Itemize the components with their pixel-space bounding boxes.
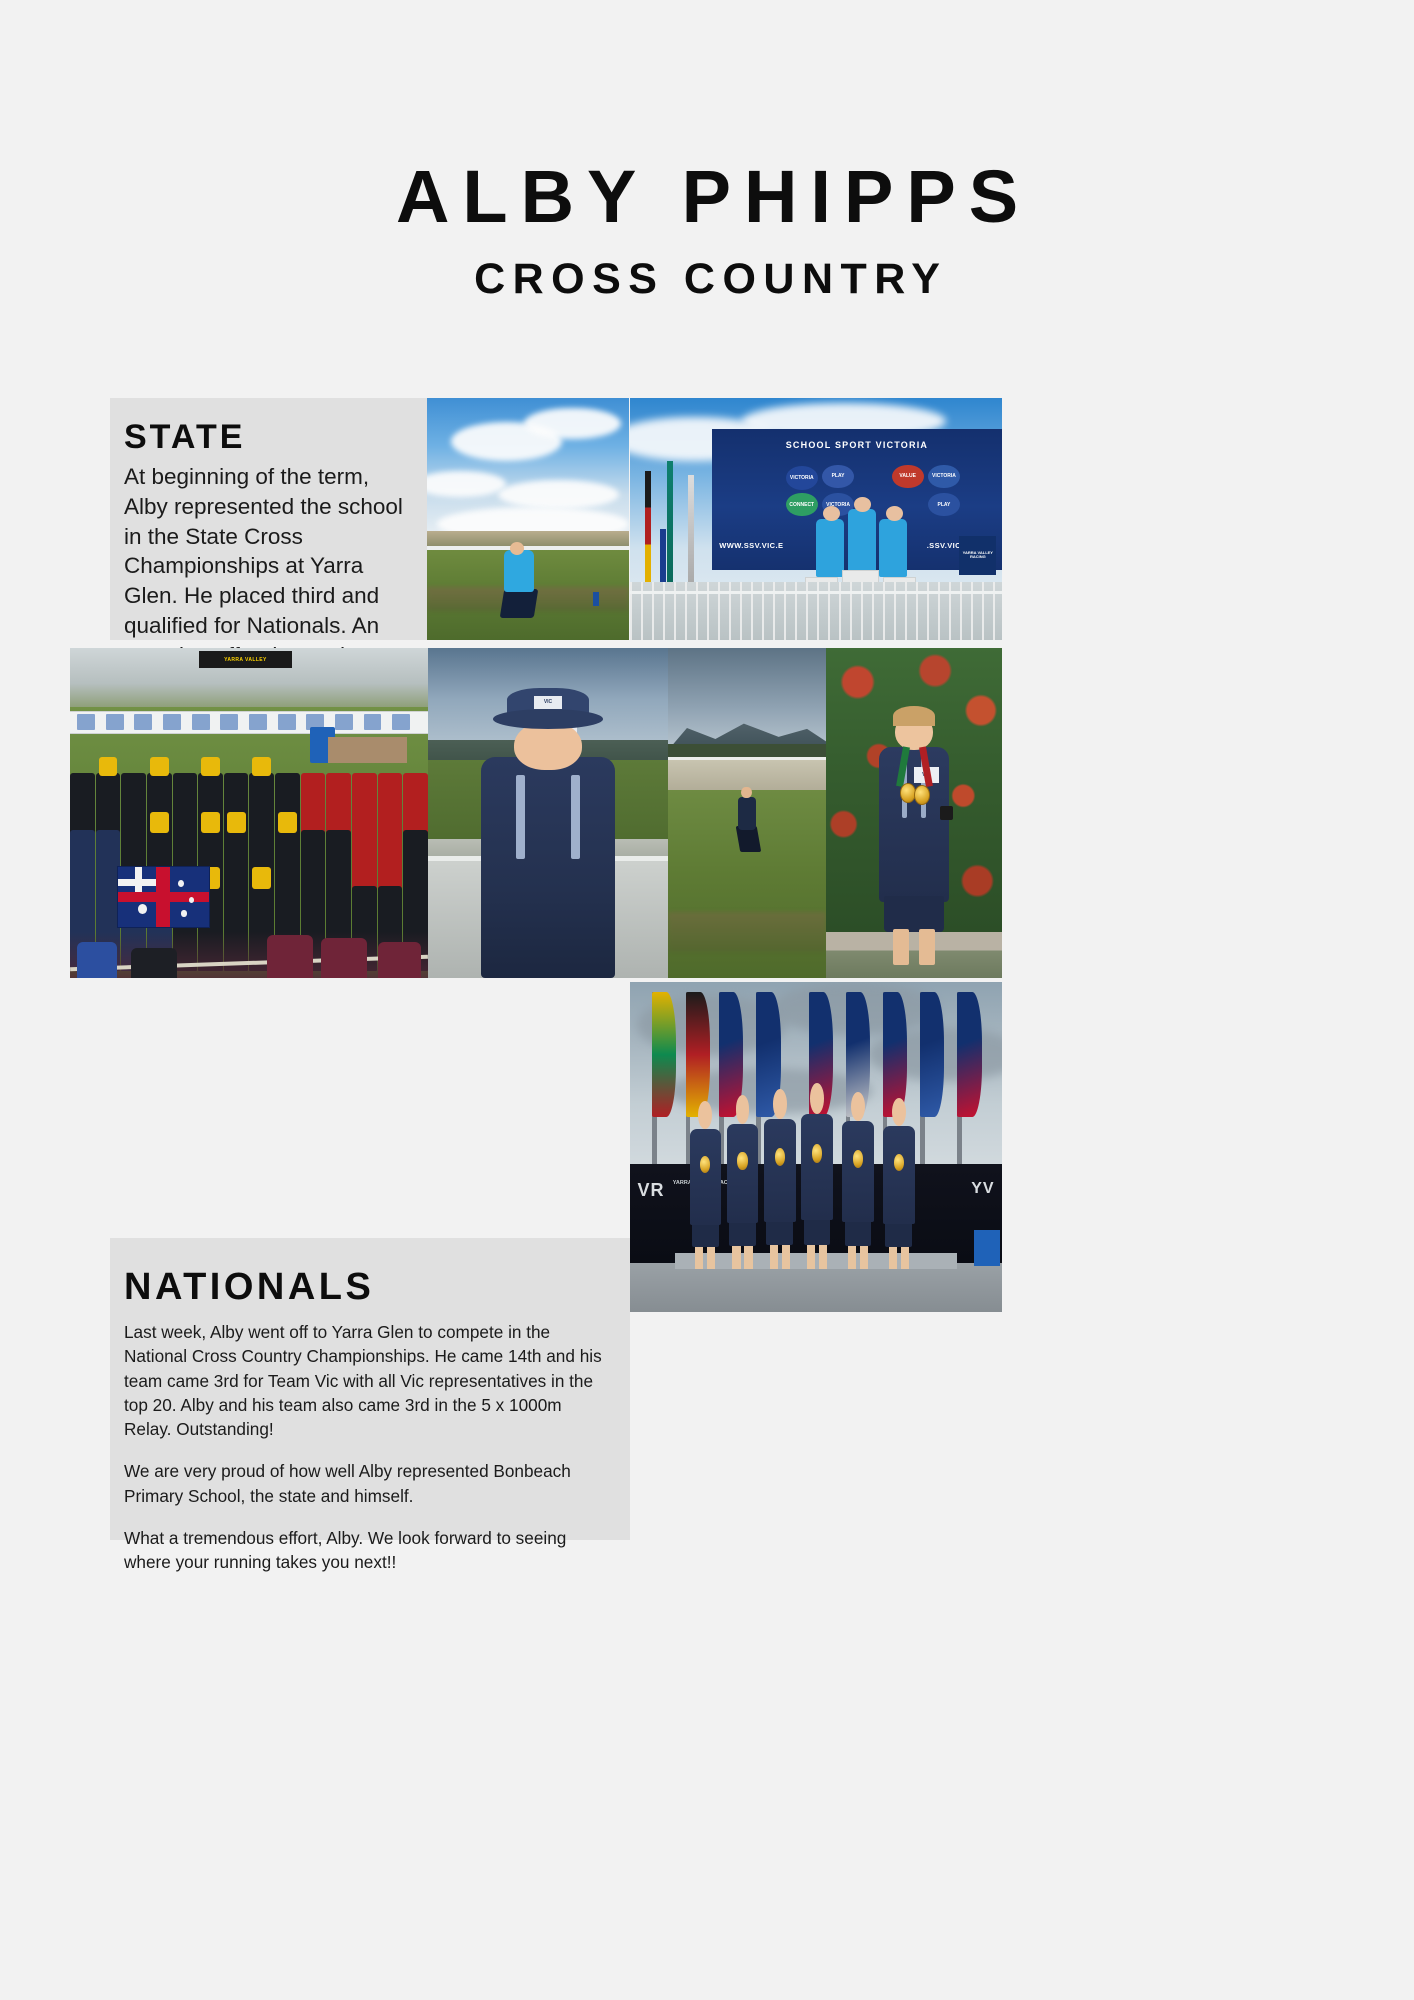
hair: [893, 706, 935, 726]
course-marker-flag: [593, 592, 599, 607]
photo-national-team: VR YARRA VALLEY RACING YV: [630, 982, 1002, 1312]
australian-flag: [117, 866, 210, 929]
podium-athlete-second: [816, 519, 844, 577]
photo-alby-bucket-hat: VIC VIC: [428, 648, 668, 978]
ssv-url-left: WWW.SSV.VIC.E: [719, 541, 783, 550]
advertising-boards: [70, 711, 428, 734]
team-athlete: [883, 1081, 915, 1269]
kerb-and-path: [826, 932, 1002, 978]
ssv-badge-victoria: VICTORIA: [786, 466, 818, 490]
brick-wall: [328, 737, 407, 763]
flag-union-2: [957, 992, 981, 1117]
page-subtitle: CROSS COUNTRY: [0, 258, 1414, 301]
ssv-badge-play-2: PLAY: [928, 493, 960, 517]
spectator: [321, 938, 368, 978]
podium-athlete-head: [854, 497, 871, 512]
ground-surface: [630, 1263, 1002, 1313]
southern-cross-star: [181, 910, 186, 916]
poster-header: ALBY PHIPPS CROSS COUNTRY: [0, 160, 1414, 301]
commonwealth-star: [138, 904, 147, 914]
photo-state-runner: [427, 398, 629, 640]
state-heading: STATE: [124, 420, 412, 456]
blue-crate: [974, 1230, 1000, 1266]
spectator: [267, 935, 314, 978]
photo-alby-with-medals: VIC: [826, 648, 1002, 978]
runner-torso: [738, 797, 757, 830]
photo-state-podium: VICTORIA PLAY VALUE VICTORIA CONNECT VIC…: [630, 398, 1002, 640]
scoreboard-label: YARRA VALLEY: [199, 651, 292, 668]
flag-torres-strait: [667, 461, 673, 582]
southern-cross-star: [178, 880, 184, 887]
team-athlete: [842, 1074, 874, 1269]
jacket-stripe: [571, 775, 580, 859]
ssv-badge-play: PLAY: [822, 465, 854, 489]
runner-head: [510, 542, 524, 555]
page-title: ALBY PHIPPS: [0, 160, 1414, 234]
bucket-hat-brim: [493, 709, 603, 729]
photo-course-runner: [668, 648, 826, 978]
spectator: [131, 948, 178, 978]
ssv-badge-victoria-2: VICTORIA: [928, 465, 960, 489]
flag-australian: [660, 529, 666, 582]
nationals-body: Last week, Alby went off to Yarra Glen t…: [124, 1320, 612, 1574]
podium-athlete-third: [879, 519, 907, 577]
jacket-stripe: [516, 775, 525, 859]
fence-rail: [630, 591, 1002, 594]
state-section-card: STATE At beginning of the term, Alby rep…: [110, 398, 428, 640]
team-athlete: [764, 1071, 796, 1269]
flag-aboriginal: [645, 471, 651, 582]
spectator: [77, 942, 116, 978]
team-athlete: [801, 1065, 833, 1270]
ssv-badge-value: VALUE: [892, 465, 924, 489]
shorts: [884, 896, 944, 932]
ssv-badge-connect: CONNECT: [786, 493, 818, 517]
flag-cross-horizontal: [118, 892, 209, 902]
horizon-line: [427, 531, 629, 546]
runner-torso: [504, 550, 534, 591]
southern-cross-star: [189, 897, 194, 903]
photo-crowd-assembly: YARRA VALLEY: [70, 648, 428, 978]
foreground-shadow: [70, 932, 428, 978]
tracksuit-jacket: [481, 757, 615, 978]
ssv-banner-title: SCHOOL SPORT VICTORIA: [734, 434, 980, 456]
nationals-paragraph-1: Last week, Alby went off to Yarra Glen t…: [124, 1320, 612, 1441]
yv-logo-right: YV: [971, 1180, 994, 1198]
vr-logo: VR: [637, 1180, 664, 1201]
team-athlete: [727, 1078, 759, 1269]
nationals-paragraph-2: We are very proud of how well Alby repre…: [124, 1459, 612, 1508]
leg: [893, 929, 909, 965]
yarra-valley-racing-logo: YARRA VALLEY RACING: [959, 536, 996, 575]
flag-pole: [688, 475, 694, 581]
runner-head: [741, 787, 751, 799]
nationals-section-card: NATIONALS Last week, Alby went off to Ya…: [110, 1238, 630, 1540]
mud-patch: [668, 912, 826, 952]
leg: [919, 929, 935, 965]
nationals-paragraph-3: What a tremendous effort, Alby. We look …: [124, 1526, 612, 1575]
medal: [914, 785, 930, 805]
team-athlete: [690, 1084, 722, 1269]
cloud-shape: [524, 408, 621, 439]
poster-page: ALBY PHIPPS CROSS COUNTRY STATE At begin…: [0, 0, 1414, 2000]
hat-vic-badge: VIC: [534, 696, 563, 709]
runner-legs: [499, 589, 538, 618]
podium-athlete-first: [848, 509, 876, 577]
spectator: [378, 942, 421, 978]
sports-watch: [940, 806, 952, 819]
flag-state-2: [920, 992, 944, 1117]
nationals-heading: NATIONALS: [124, 1268, 612, 1306]
flag-aboriginal: [652, 992, 676, 1117]
runner-legs: [735, 826, 760, 852]
